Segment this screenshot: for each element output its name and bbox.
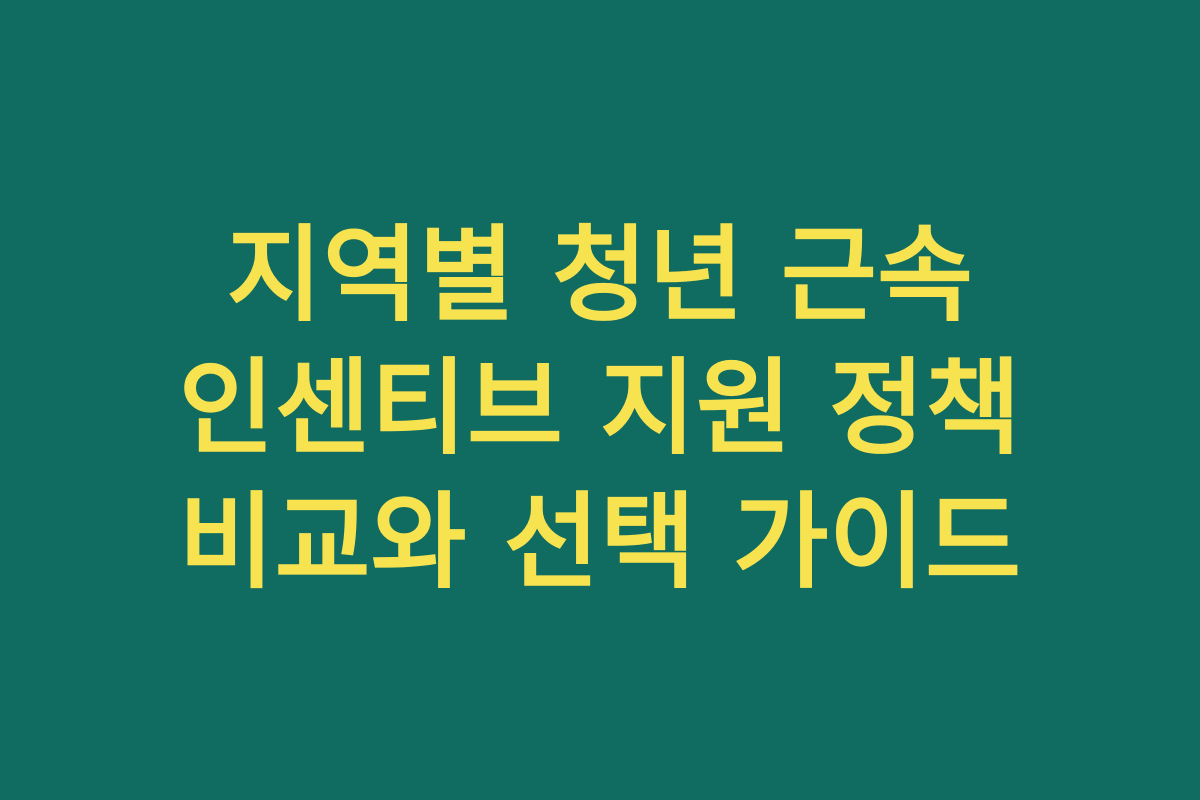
page-title: 지역별 청년 근속 인센티브 지원 정책 비교와 선택 가이드 <box>105 209 1095 608</box>
title-card: 지역별 청년 근속 인센티브 지원 정책 비교와 선택 가이드 <box>0 0 1200 800</box>
headline-block: 지역별 청년 근속 인센티브 지원 정책 비교와 선택 가이드 <box>95 209 1105 608</box>
